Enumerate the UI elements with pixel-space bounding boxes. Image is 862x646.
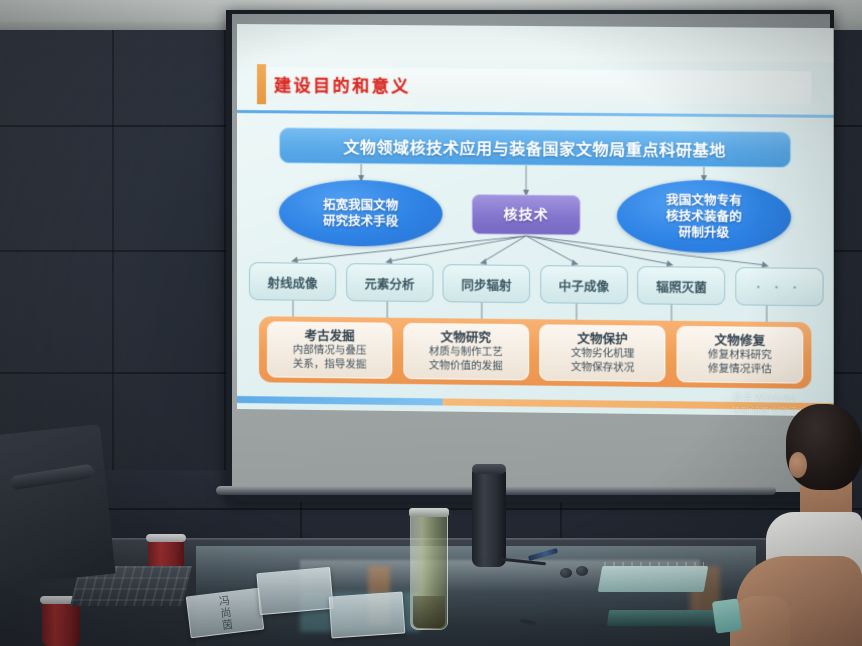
spiral-notebook (598, 566, 709, 592)
technique-label: 射线成像 (267, 272, 317, 292)
application-card-1: 文物研究 材质与制作工艺 文物价值的发掘 (403, 323, 529, 381)
application-detail: 关系，指导发掘 (293, 358, 367, 373)
core-technology-label: 核技术 (503, 205, 548, 226)
technique-box-2: 同步辐射 (443, 264, 531, 303)
nameplate-text: 冯尚茵 (215, 594, 235, 632)
technique-label: 中子成像 (559, 275, 609, 295)
technique-label: · · · (756, 279, 802, 295)
application-heading: 文物研究 (441, 331, 491, 347)
application-detail: 文物价值的发掘 (429, 359, 503, 374)
slide-banner-text: 文物领域核技术应用与装备国家文物局重点科研基地 (343, 134, 726, 161)
paper-cup-lid (146, 534, 186, 542)
application-detail: 内部情况与叠压 (293, 344, 367, 359)
nameplate-2 (329, 591, 406, 638)
wall-panel-seam (300, 500, 302, 542)
application-row: 考古发掘 内部情况与叠压 关系，指导发掘 文物研究 材质与制作工艺 文物价值的发… (267, 321, 803, 383)
application-detail: 修复情况评估 (708, 362, 772, 376)
technique-label: 元素分析 (364, 273, 414, 293)
slide-banner: 文物领域核技术应用与装备国家文物局重点科研基地 (279, 127, 791, 168)
technique-row: 射线成像 元素分析 同步辐射 中子成像 辐照灭菌 · · · (249, 262, 824, 306)
technique-box-3: 中子成像 (540, 265, 628, 304)
technique-box-ellipsis: · · · (735, 267, 823, 306)
small-desk-object (576, 566, 588, 576)
technique-box-4: 辐照灭菌 (637, 266, 725, 305)
application-heading: 文物修复 (714, 334, 765, 350)
core-technology-node: 核技术 (472, 194, 581, 235)
wall-panel-seam (560, 500, 562, 542)
application-card-0: 考古发掘 内部情况与叠压 关系，指导发掘 (267, 321, 392, 379)
application-heading: 文物保护 (577, 332, 628, 348)
person-ear (789, 452, 807, 478)
office-chair (0, 424, 116, 586)
presentation-slide: 建设目的和意义 文物领域核技术应用与装备 (237, 24, 834, 416)
application-detail: 修复材料研究 (708, 349, 772, 363)
tea-leaves (413, 596, 445, 628)
goal-node-left-text: 拓宽我国文物研究技术手段 (323, 197, 398, 230)
technique-box-1: 元素分析 (346, 263, 433, 302)
thermos-cap (472, 464, 506, 474)
nameplate-1 (256, 567, 333, 615)
application-detail: 文物保存状况 (571, 361, 635, 375)
application-card-2: 文物保护 文物劣化机理 文物保存状况 (540, 324, 666, 382)
application-detail: 材质与制作工艺 (429, 346, 503, 361)
tea-jar-lid (409, 508, 449, 517)
application-card-3: 文物修复 修复材料研究 修复情况评估 (677, 326, 804, 384)
small-desk-object (560, 568, 572, 578)
technique-label: 同步辐射 (461, 274, 511, 294)
goal-node-right-text: 我国文物专有核技术装备的研制升级 (666, 192, 742, 241)
notebook (607, 610, 725, 626)
application-heading: 考古发掘 (305, 329, 355, 345)
technique-label: 辐照灭菌 (656, 276, 707, 296)
thermos (472, 467, 506, 567)
paper-cup (42, 600, 80, 646)
conference-room-scene: 建设目的和意义 文物领域核技术应用与装备 (0, 0, 862, 646)
smartphone[interactable] (712, 598, 742, 633)
technique-box-0: 射线成像 (249, 262, 336, 301)
application-detail: 文物劣化机理 (571, 347, 635, 361)
nameplate-0: 冯尚茵 (186, 588, 265, 639)
